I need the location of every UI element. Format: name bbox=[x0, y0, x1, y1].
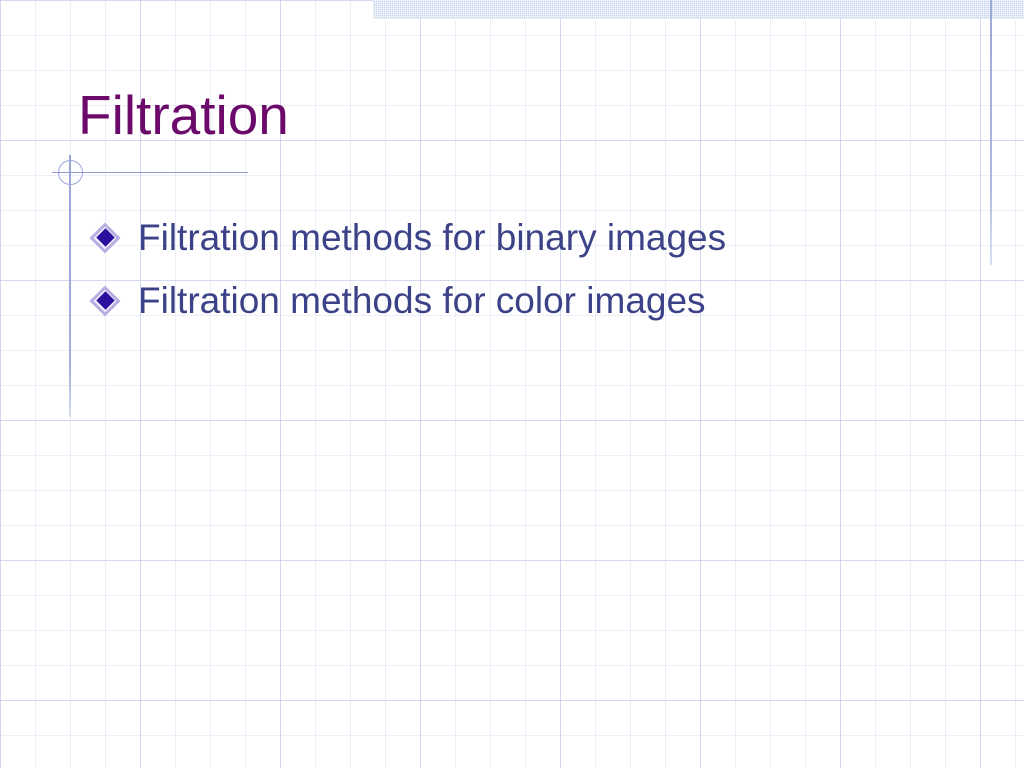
diamond-bullet-icon bbox=[92, 288, 118, 314]
circle-motif-icon bbox=[58, 160, 83, 185]
slide-canvas: Filtration Filtration methods for binary… bbox=[0, 0, 1024, 768]
left-vertical-rule bbox=[69, 155, 71, 417]
diamond-bullet-icon bbox=[92, 225, 118, 251]
top-accent-band bbox=[373, 0, 1024, 19]
list-item-label: Filtration methods for color images bbox=[138, 282, 706, 319]
bullet-list: Filtration methods for binary images Fil… bbox=[92, 206, 922, 332]
list-item-label: Filtration methods for binary images bbox=[138, 219, 726, 256]
right-vertical-rule bbox=[990, 0, 992, 265]
list-item: Filtration methods for binary images bbox=[92, 206, 922, 269]
list-item: Filtration methods for color images bbox=[92, 269, 922, 332]
page-title: Filtration bbox=[78, 88, 289, 143]
